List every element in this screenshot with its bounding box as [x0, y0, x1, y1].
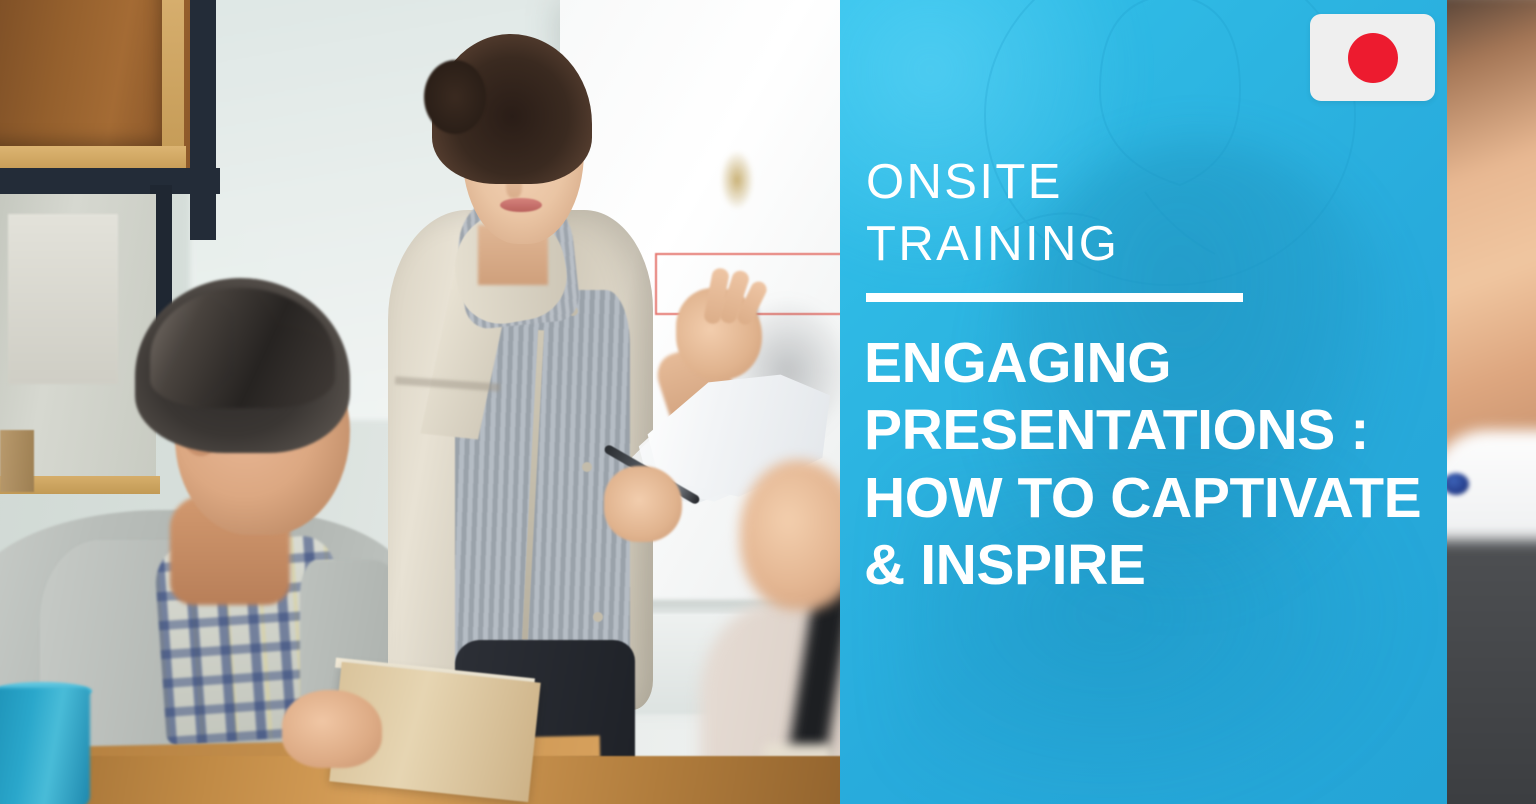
japan-flag-badge: [1310, 14, 1435, 101]
right-edge-attendee: [1447, 0, 1536, 804]
shelf-wood-edge-horizontal: [0, 146, 186, 168]
headline-text: ENGAGING PRESENTATIONS : HOW TO CAPTIVAT…: [864, 330, 1424, 599]
shelf-stored-paper: [8, 214, 118, 384]
whiteboard-marker-smudge: [720, 150, 754, 210]
presenter-jacket-button: [582, 462, 592, 472]
shelf-frame-vertical: [190, 0, 216, 240]
teal-mug: [0, 688, 90, 804]
shelf-book: [0, 430, 34, 492]
presenter-jacket-button: [593, 612, 603, 622]
presenter-hair-bun: [424, 60, 486, 134]
presenter-lips: [500, 198, 542, 212]
attendee-hand: [282, 690, 382, 768]
divider-rule: [866, 293, 1243, 302]
right-edge-dark-surface: [1447, 540, 1536, 804]
shelf-frame-horizontal: [0, 168, 220, 194]
kicker-text: ONSITE TRAINING: [866, 152, 1119, 275]
shelf-wood-edge-vertical: [162, 0, 184, 168]
presenter-hand-holding-papers: [604, 466, 682, 542]
japan-flag-disc: [1348, 33, 1398, 83]
shelf-wood-inner: [0, 0, 168, 148]
right-edge-skin: [1447, 0, 1536, 470]
training-banner: ONSITE TRAINING ENGAGING PRESENTATIONS :…: [0, 0, 1536, 804]
